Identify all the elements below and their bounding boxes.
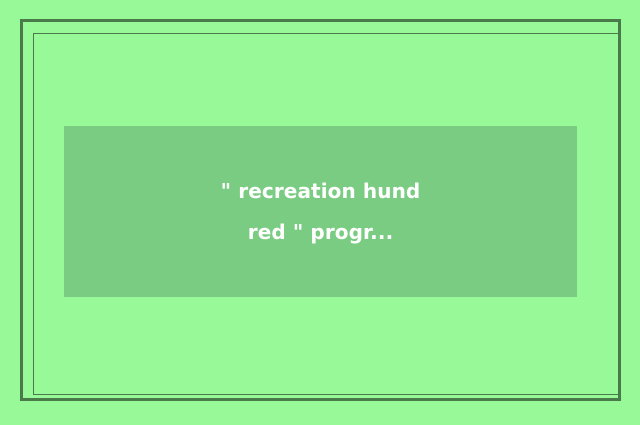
quote-panel: " recreation hundred " progr... [64, 126, 577, 297]
card-canvas: " recreation hundred " progr... [0, 0, 640, 425]
quote-text: " recreation hundred " progr... [221, 171, 421, 253]
